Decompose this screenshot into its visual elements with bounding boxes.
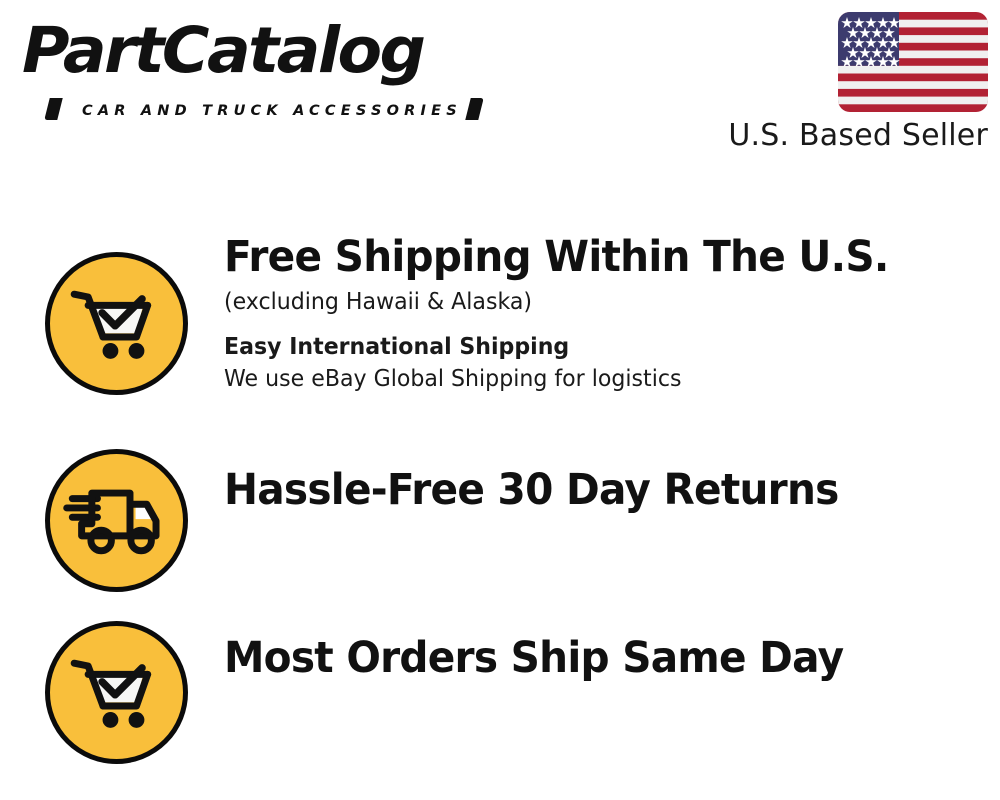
feature-item-returns: Hassle-Free 30 Day Returns [0,425,1000,575]
feature-headline: Most Orders Ship Same Day [224,635,938,681]
logo-slash-left-decoration [44,98,62,120]
feature-subline-exclusions: (excluding Hawaii & Alaska) [224,288,950,317]
shopping-cart-check-icon [45,252,188,395]
feature-subline-international-detail: We use eBay Global Shipping for logistic… [224,365,950,394]
feature-text-block: Most Orders Ship Same Day [224,635,980,681]
feature-item-free-shipping: Free Shipping Within The U.S. (excluding… [0,230,1000,420]
brand-wordmark: PartCatalog [22,14,423,87]
feature-subline-international-title: Easy International Shipping [224,333,950,362]
feature-headline: Free Shipping Within The U.S. [224,234,938,280]
shopping-cart-check-icon [45,621,188,764]
us-based-seller-label: U.S. Based Seller [728,118,988,153]
feature-headline: Hassle-Free 30 Day Returns [224,467,938,513]
feature-text-block: Free Shipping Within The U.S. (excluding… [224,234,980,394]
feature-item-same-day-ship: Most Orders Ship Same Day [0,595,1000,745]
us-flag-icon [838,12,988,112]
banner-header: PartCatalog CAR AND TRUCK ACCESSORIES [0,0,1000,175]
delivery-truck-icon [45,449,188,592]
brand-logo: PartCatalog CAR AND TRUCK ACCESSORIES [22,18,492,118]
logo-slash-right-decoration [465,98,483,120]
feature-text-block: Hassle-Free 30 Day Returns [224,467,980,513]
brand-tagline: CAR AND TRUCK ACCESSORIES [82,103,462,119]
